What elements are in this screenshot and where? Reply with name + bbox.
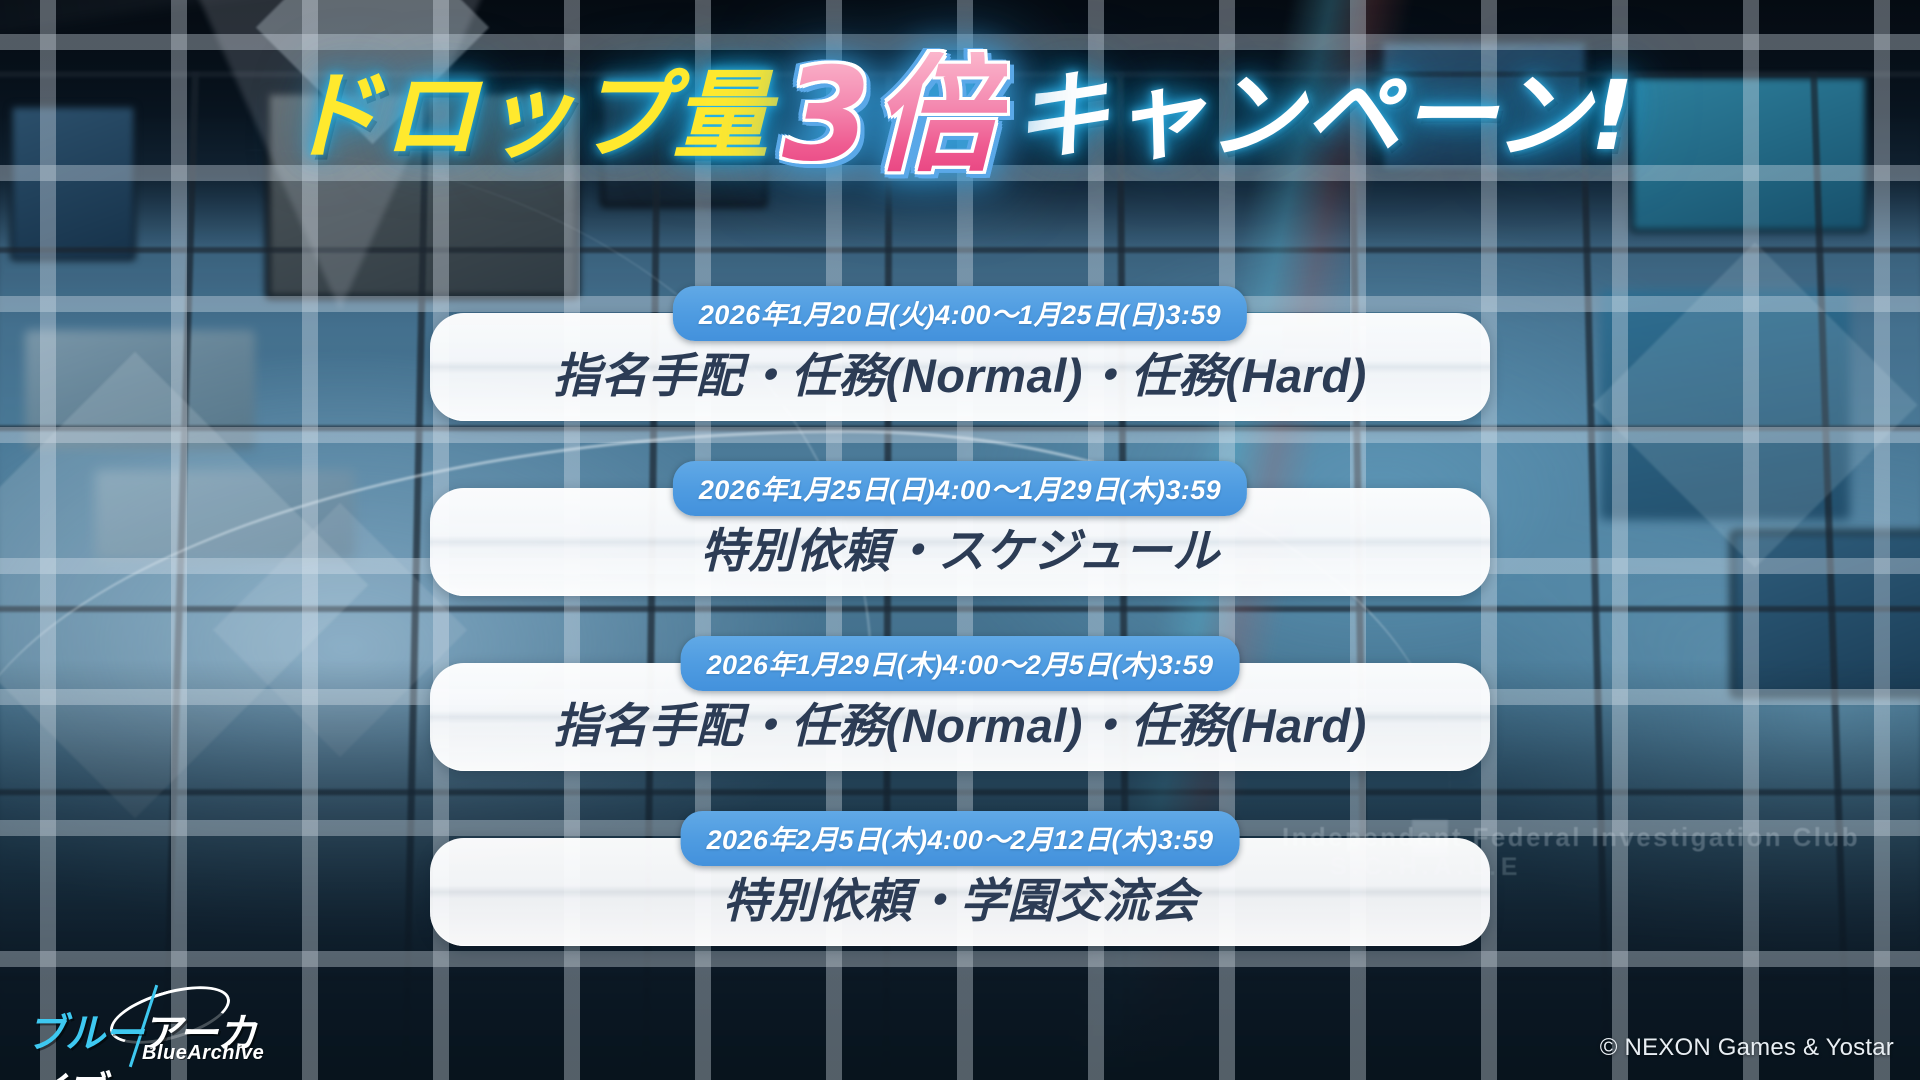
logo-jp-blue: ブルー [26, 1011, 141, 1057]
page-title: ドロップ量3倍キャンペーン! [0, 52, 1920, 180]
schedule-entry: 2026年1月25日(日)4:00〜1月29日(木)3:59 特別依頼・スケジュ… [0, 461, 1920, 636]
logo-japanese-text: ブルーアーカイブ [26, 1001, 292, 1080]
schedule-entry: 2026年2月5日(木)4:00〜2月12日(木)3:59 特別依頼・学園交流会 [0, 811, 1920, 986]
schedule-list: 2026年1月20日(火)4:00〜1月25日(日)3:59 指名手配・任務(N… [0, 286, 1920, 986]
schedule-entry: 2026年1月20日(火)4:00〜1月25日(日)3:59 指名手配・任務(N… [0, 286, 1920, 461]
title-highlight: 3倍 [776, 52, 1007, 180]
schedule-date-text: 2026年1月29日(木)4:00〜2月5日(木)3:59 [707, 643, 1214, 682]
schedule-date-badge: 2026年1月29日(木)4:00〜2月5日(木)3:59 [681, 636, 1240, 691]
logo-english-text: BlueArchive [142, 1042, 264, 1065]
schedule-date-text: 2026年1月20日(火)4:00〜1月25日(日)3:59 [699, 293, 1221, 332]
schedule-date-badge: 2026年1月25日(日)4:00〜1月29日(木)3:59 [673, 461, 1247, 516]
schedule-date-badge: 2026年2月5日(木)4:00〜2月12日(木)3:59 [681, 811, 1240, 866]
banner-stage: Independent Federal Investigation Club S… [0, 0, 1920, 1080]
title-part1: ドロップ量 [285, 68, 770, 164]
copyright-notice: © NEXON Games & Yostar [1600, 1034, 1894, 1062]
schedule-content-text: 指名手配・任務(Normal)・任務(Hard) [553, 687, 1367, 756]
schedule-date-text: 2026年1月25日(日)4:00〜1月29日(木)3:59 [699, 468, 1221, 507]
title-part2: キャンペーン! [1013, 68, 1635, 164]
blue-archive-logo: ブルーアーカイブ BlueArchive [24, 995, 292, 1063]
schedule-date-text: 2026年2月5日(木)4:00〜2月12日(木)3:59 [707, 818, 1214, 857]
schedule-content-text: 指名手配・任務(Normal)・任務(Hard) [553, 337, 1367, 406]
schedule-content-text: 特別依頼・スケジュール [700, 512, 1219, 581]
schedule-date-badge: 2026年1月20日(火)4:00〜1月25日(日)3:59 [673, 286, 1247, 341]
schedule-content-text: 特別依頼・学園交流会 [723, 862, 1198, 931]
schedule-entry: 2026年1月29日(木)4:00〜2月5日(木)3:59 指名手配・任務(No… [0, 636, 1920, 811]
